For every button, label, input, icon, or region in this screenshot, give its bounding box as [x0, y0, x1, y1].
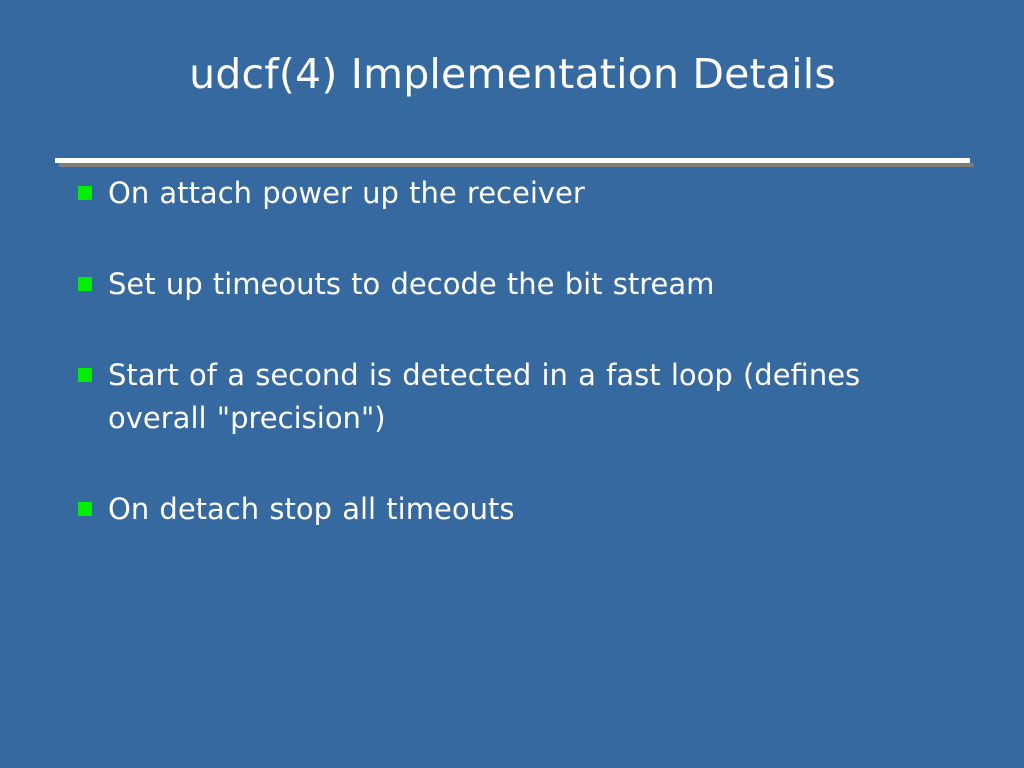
bullet-list: On attach power up the receiver Set up t… [78, 172, 958, 531]
square-bullet-icon [78, 368, 92, 382]
slide-title-block: udcf(4) Implementation Details [0, 46, 1024, 126]
square-bullet-icon [78, 186, 92, 200]
list-item: Set up timeouts to decode the bit stream [78, 263, 958, 306]
square-bullet-icon [78, 502, 92, 516]
title-rule-shadow [59, 163, 974, 167]
list-item: On detach stop all timeouts [78, 488, 958, 531]
list-item: On attach power up the receiver [78, 172, 958, 215]
list-item-label: On attach power up the receiver [108, 172, 958, 215]
presentation-slide: udcf(4) Implementation Details On attach… [0, 0, 1024, 768]
list-item-label: On detach stop all timeouts [108, 488, 958, 531]
square-bullet-icon [78, 277, 92, 291]
list-item-label: Start of a second is detected in a fast … [108, 354, 920, 440]
list-item: Start of a second is detected in a fast … [78, 354, 958, 440]
page-title: udcf(4) Implementation Details [55, 46, 970, 102]
list-item-label: Set up timeouts to decode the bit stream [108, 263, 958, 306]
